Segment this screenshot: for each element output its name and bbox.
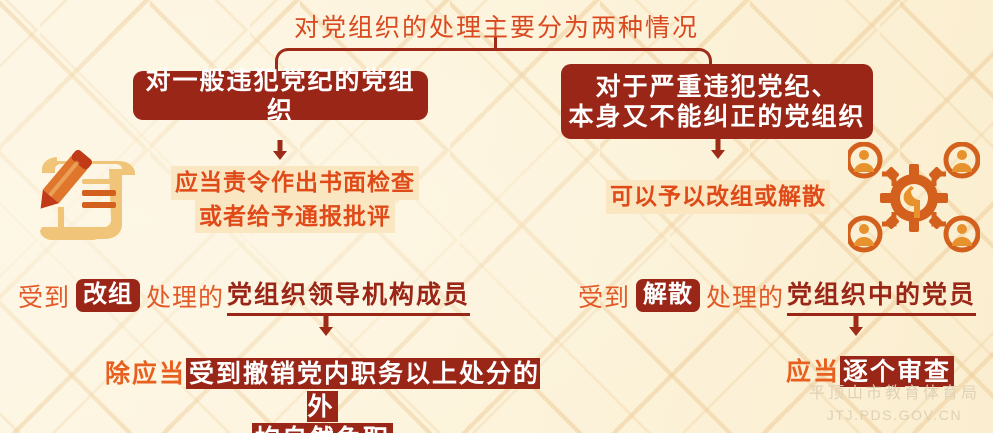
left-outcome-prefix: 除应当 — [105, 359, 186, 388]
left-subject-middle: 处理的 — [146, 278, 224, 314]
watermark-url: JTJ.PDS.GOV.CN — [809, 405, 980, 425]
gear-people-network-icon — [848, 142, 980, 254]
page-title: 对党组织的处理主要分为两种情况 — [0, 8, 993, 44]
right-measure-text: 可以予以改组或解散 — [578, 180, 858, 214]
left-subject-line: 受到 改组 处理的 党组织领导机构成员 — [18, 275, 470, 316]
left-subject-emphasis: 党组织领导机构成员 — [227, 275, 470, 316]
left-branch-box: 对一般违犯党纪的党组织 — [133, 71, 428, 120]
left-measure-line-2: 或者给予通报批评 — [195, 200, 395, 234]
right-subject-line: 受到 解散 处理的 党组织中的党员 — [578, 275, 976, 316]
left-outcome-line-2: 均自然免职 — [252, 423, 393, 433]
right-subject-prefix: 受到 — [578, 278, 630, 314]
watermark: 平顶山市教育体育局 JTJ.PDS.GOV.CN — [809, 382, 980, 425]
left-subject-prefix: 受到 — [18, 278, 70, 314]
right-subject-emphasis: 党组织中的党员 — [787, 275, 976, 316]
right-branch-box: 对于严重违犯党纪、 本身又不能纠正的党组织 — [561, 64, 873, 139]
right-measure-line-1: 可以予以改组或解散 — [606, 180, 830, 214]
right-branch-box-line-2: 本身又不能纠正的党组织 — [568, 102, 865, 132]
left-subject-badge: 改组 — [76, 279, 140, 311]
right-subject-middle: 处理的 — [706, 278, 784, 314]
right-branch-box-line-1: 对于严重违犯党纪、 — [595, 72, 838, 101]
watermark-organization: 平顶山市教育体育局 — [809, 382, 980, 405]
left-outcome-block: 除应当受到撤销党内职务以上处分的外 均自然免职 — [95, 358, 550, 433]
infographic-canvas: 对党组织的处理主要分为两种情况 对一般违犯党纪的党组织 应当责令作出书面检查 或… — [0, 0, 993, 433]
left-measure-line-1: 应当责令作出书面检查 — [171, 166, 419, 200]
scroll-pencil-icon — [12, 143, 142, 255]
left-measure-text: 应当责令作出书面检查 或者给予通报批评 — [130, 166, 460, 233]
right-subject-badge: 解散 — [636, 279, 700, 311]
left-outcome-line-1: 受到撤销党内职务以上处分的外 — [186, 358, 540, 422]
